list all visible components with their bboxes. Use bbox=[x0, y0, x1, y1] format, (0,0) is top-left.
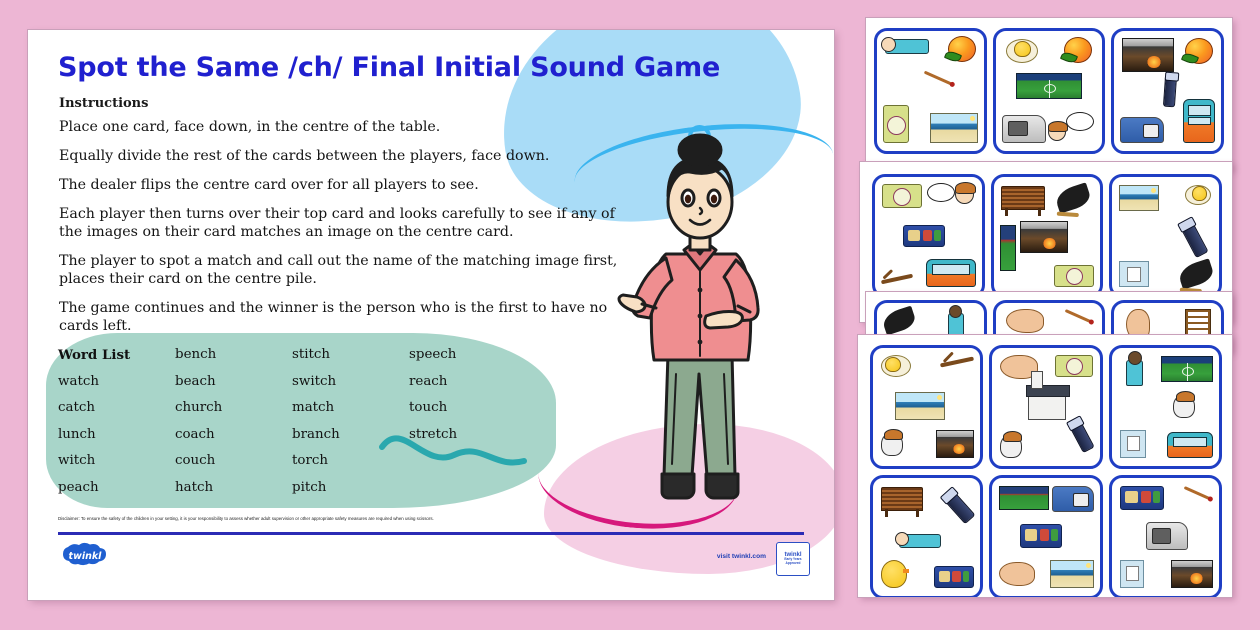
torch-picture bbox=[1179, 220, 1208, 258]
picture-card[interactable] bbox=[870, 475, 983, 597]
oven-picture bbox=[1020, 221, 1068, 253]
watch-picture bbox=[882, 184, 922, 208]
instruction-step: The player to spot a match and call out … bbox=[59, 252, 629, 288]
svg-text:twinkl: twinkl bbox=[69, 551, 103, 562]
disclaimer-text: Disclaimer: To ensure the safety of the … bbox=[58, 516, 798, 522]
picture-card[interactable] bbox=[1109, 174, 1222, 298]
word-item: torch bbox=[292, 448, 409, 475]
word-item: church bbox=[175, 395, 292, 422]
instructions-list: Place one card, face down, in the centre… bbox=[59, 118, 629, 346]
peach-picture bbox=[1064, 37, 1092, 63]
word-item: match bbox=[292, 395, 409, 422]
picture-card[interactable] bbox=[991, 174, 1104, 298]
word-item: lunch bbox=[58, 422, 175, 449]
branch-picture bbox=[881, 274, 913, 285]
visit-link[interactable]: visit twinkl.com bbox=[717, 553, 766, 560]
word-item: reach bbox=[409, 369, 526, 396]
speech-picture bbox=[1066, 112, 1094, 131]
beach-picture bbox=[895, 392, 945, 420]
church-picture bbox=[1028, 392, 1066, 420]
hatch-chick bbox=[1014, 41, 1031, 57]
match-picture bbox=[924, 71, 954, 87]
instructions-heading: Instructions bbox=[59, 96, 148, 111]
word-item: touch bbox=[409, 395, 526, 422]
word-item: peach bbox=[58, 475, 175, 502]
watch-picture bbox=[1055, 355, 1093, 377]
speech-picture bbox=[927, 183, 955, 202]
couch-picture bbox=[1002, 115, 1046, 143]
word-list: Word List bench stitch speech watch beac… bbox=[58, 342, 528, 501]
card-grid-1 bbox=[874, 28, 1224, 154]
instruction-step: Place one card, face down, in the centre… bbox=[59, 118, 629, 136]
switch-picture bbox=[1120, 430, 1146, 458]
picture-card[interactable] bbox=[1109, 475, 1222, 597]
catch-picture bbox=[881, 432, 903, 456]
catch-picture bbox=[1000, 434, 1022, 458]
instruction-step: Each player then turns over their top ca… bbox=[59, 205, 629, 241]
watch-picture bbox=[883, 105, 909, 143]
match-picture bbox=[1065, 309, 1094, 324]
hatch-chick bbox=[1192, 186, 1207, 201]
torch-picture bbox=[1163, 75, 1177, 108]
instruction-step: The dealer flips the centre card over fo… bbox=[59, 176, 629, 194]
word-item: stitch bbox=[292, 342, 409, 369]
twinkl-logo: twinkl bbox=[56, 542, 116, 568]
witch-picture bbox=[881, 306, 918, 336]
coach-picture bbox=[1183, 99, 1215, 143]
pitch-picture bbox=[1016, 73, 1082, 99]
bench-picture bbox=[881, 487, 923, 511]
word-item: beach bbox=[175, 369, 292, 396]
stretch-head bbox=[1128, 351, 1142, 365]
couch-picture bbox=[1120, 117, 1164, 143]
lunch-picture bbox=[934, 566, 974, 588]
oven-picture bbox=[1122, 38, 1174, 72]
instruction-step: The game continues and the winner is the… bbox=[59, 299, 629, 335]
word-item: hatch bbox=[175, 475, 292, 502]
word-item-empty bbox=[409, 448, 526, 475]
word-item: catch bbox=[58, 395, 175, 422]
lunch-picture bbox=[1020, 524, 1062, 548]
twinkl-approved-badge: twinkl Early Years Approved bbox=[776, 542, 810, 576]
word-item: pitch bbox=[292, 475, 409, 502]
stretch-head bbox=[949, 305, 962, 318]
speech-person-head bbox=[955, 185, 974, 204]
picture-card[interactable] bbox=[1109, 345, 1222, 469]
switch-picture bbox=[1120, 560, 1144, 588]
coach-picture bbox=[1167, 432, 1213, 458]
picture-card[interactable] bbox=[870, 345, 983, 469]
picture-card[interactable] bbox=[1111, 28, 1224, 154]
picture-card[interactable] bbox=[993, 28, 1106, 154]
pointing-teacher-illustration bbox=[606, 124, 796, 524]
lunch-picture bbox=[903, 225, 945, 247]
branch-picture bbox=[940, 357, 974, 368]
word-item: stretch bbox=[409, 422, 526, 449]
hatch-chick bbox=[885, 357, 901, 372]
stretch-head bbox=[881, 37, 896, 52]
torch-picture bbox=[943, 490, 976, 525]
word-item: watch bbox=[58, 369, 175, 396]
stretch-head bbox=[895, 532, 909, 546]
pitch-picture bbox=[1000, 225, 1016, 271]
chick-picture bbox=[881, 560, 907, 588]
beach-picture bbox=[1050, 560, 1094, 588]
word-item: bench bbox=[175, 342, 292, 369]
oven-picture bbox=[1171, 560, 1213, 588]
word-item: coach bbox=[175, 422, 292, 449]
word-item-empty bbox=[409, 475, 526, 502]
card-grid-4 bbox=[870, 345, 1222, 597]
oven-picture bbox=[936, 430, 974, 458]
instruction-step: Equally divide the rest of the cards bet… bbox=[59, 147, 629, 165]
picture-card[interactable] bbox=[989, 475, 1102, 597]
witch-picture bbox=[1176, 258, 1215, 289]
speech-person-head bbox=[1048, 123, 1066, 141]
word-item: speech bbox=[409, 342, 526, 369]
screenshot-stage: Spot the Same /ch/ Final Initial Sound G… bbox=[0, 0, 1260, 630]
picture-card[interactable] bbox=[874, 28, 987, 154]
word-item: couch bbox=[175, 448, 292, 475]
bench-picture bbox=[1001, 186, 1045, 210]
card-sheet-4 bbox=[858, 335, 1232, 597]
peach-picture bbox=[948, 36, 976, 62]
word-item: witch bbox=[58, 448, 175, 475]
footer-divider bbox=[58, 532, 804, 535]
peach-picture bbox=[1185, 38, 1213, 64]
picture-card[interactable] bbox=[989, 345, 1102, 469]
picture-card[interactable] bbox=[872, 174, 985, 298]
pitch-picture bbox=[999, 486, 1049, 510]
couch-picture bbox=[1146, 522, 1188, 550]
card-grid-2 bbox=[872, 174, 1222, 298]
beach-picture bbox=[1119, 185, 1159, 211]
catch-picture bbox=[1173, 394, 1195, 418]
word-item: branch bbox=[292, 422, 409, 449]
witch-picture bbox=[1054, 182, 1093, 213]
word-list-heading: Word List bbox=[58, 342, 175, 369]
touch-picture bbox=[999, 562, 1035, 586]
pitch-picture bbox=[1161, 356, 1213, 382]
word-item: switch bbox=[292, 369, 409, 396]
match-picture bbox=[1184, 486, 1213, 501]
switch-picture bbox=[1119, 261, 1149, 287]
torch-picture bbox=[1068, 419, 1095, 453]
instruction-sheet: Spot the Same /ch/ Final Initial Sound G… bbox=[28, 30, 834, 600]
page-title: Spot the Same /ch/ Final Initial Sound G… bbox=[58, 52, 720, 83]
badge-subtitle: Early Years Approved bbox=[777, 558, 809, 565]
coach-picture bbox=[926, 259, 976, 287]
touch-picture bbox=[1006, 309, 1044, 333]
watch-picture bbox=[1054, 265, 1094, 287]
card-sheet-1 bbox=[866, 18, 1232, 170]
beach-picture bbox=[930, 113, 978, 143]
couch-picture bbox=[1052, 486, 1094, 512]
lunch-picture bbox=[1120, 486, 1164, 510]
